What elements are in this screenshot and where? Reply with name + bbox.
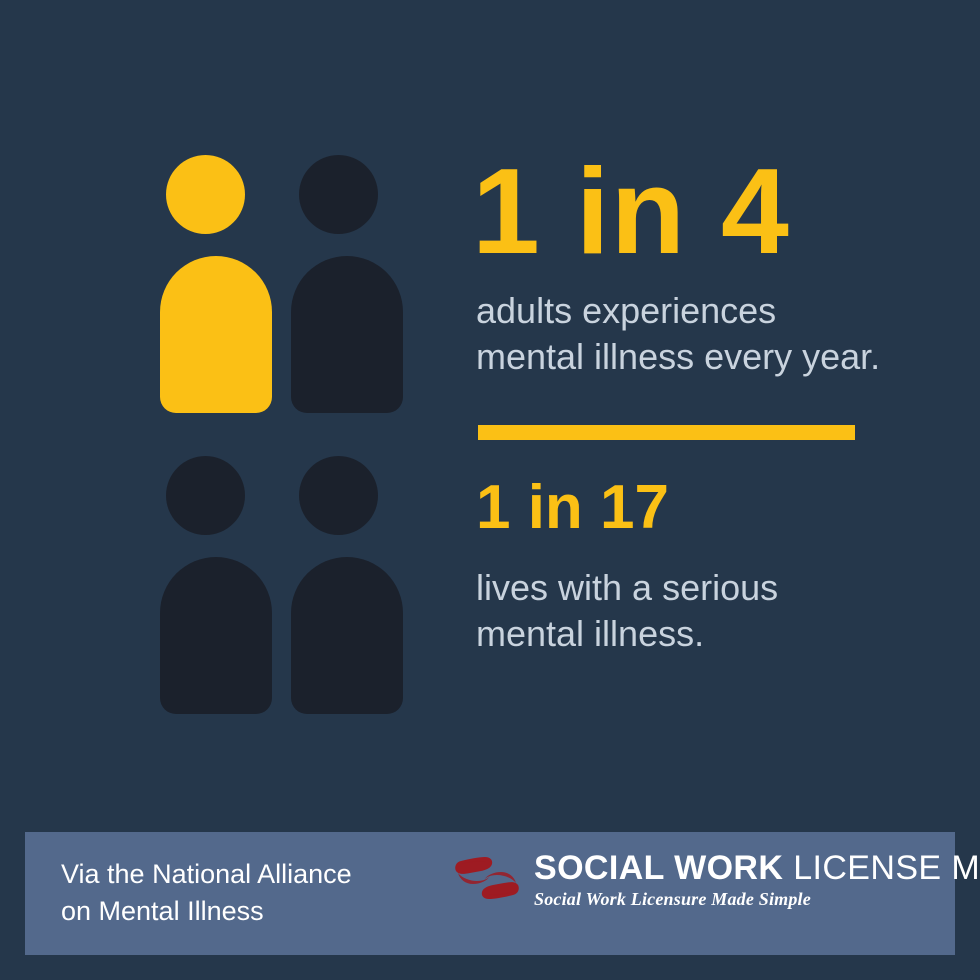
logo-text-group: SOCIAL WORK LICENSE MAP Social Work Lice… (534, 850, 980, 910)
source-attribution: Via the National Alliance on Mental Illn… (61, 856, 451, 931)
person-body-icon (291, 256, 403, 413)
person-head-icon (166, 155, 245, 234)
people-pictogram (160, 155, 386, 715)
primary-stat-body-line-2: mental illness every year. (476, 336, 880, 377)
secondary-stat-body-line-2: mental illness. (476, 613, 704, 654)
attribution-line-2: on Mental Illness (61, 893, 451, 930)
secondary-stat-headline: 1 in 17 (476, 477, 778, 539)
person-body-icon (291, 557, 403, 714)
primary-stat-body-line-1: adults experiences (476, 290, 776, 331)
person-body-icon (160, 557, 272, 714)
clasped-hands-icon (450, 850, 524, 906)
person-head-icon (166, 456, 245, 535)
person-head-icon (299, 155, 378, 234)
primary-stat-body: adults experiences mental illness every … (476, 288, 880, 380)
primary-stat-block: 1 in 4 adults experiences mental illness… (472, 150, 880, 380)
primary-stat-headline: 1 in 4 (472, 150, 880, 272)
secondary-stat-body-line-1: lives with a serious (476, 567, 778, 608)
logo-wordmark-bold: SOCIAL WORK (534, 849, 783, 887)
person-head-icon (299, 456, 378, 535)
footer-band: Via the National Alliance on Mental Illn… (25, 832, 955, 955)
logo-wordmark: SOCIAL WORK LICENSE MAP (534, 851, 980, 885)
brand-logo[interactable]: SOCIAL WORK LICENSE MAP Social Work Lice… (450, 850, 980, 910)
person-icon-dim (291, 155, 403, 413)
person-body-icon (160, 256, 272, 413)
section-divider (478, 425, 855, 440)
infographic-canvas: 1 in 4 adults experiences mental illness… (0, 0, 980, 980)
logo-wordmark-light: LICENSE MAP (793, 849, 980, 887)
person-icon-dim (160, 456, 272, 714)
secondary-stat-block: 1 in 17 lives with a serious mental illn… (476, 477, 778, 657)
logo-tagline: Social Work Licensure Made Simple (534, 889, 980, 910)
secondary-stat-body: lives with a serious mental illness. (476, 565, 778, 657)
attribution-line-1: Via the National Alliance (61, 856, 451, 893)
person-icon-dim (291, 456, 403, 714)
person-icon-highlighted (160, 155, 272, 413)
